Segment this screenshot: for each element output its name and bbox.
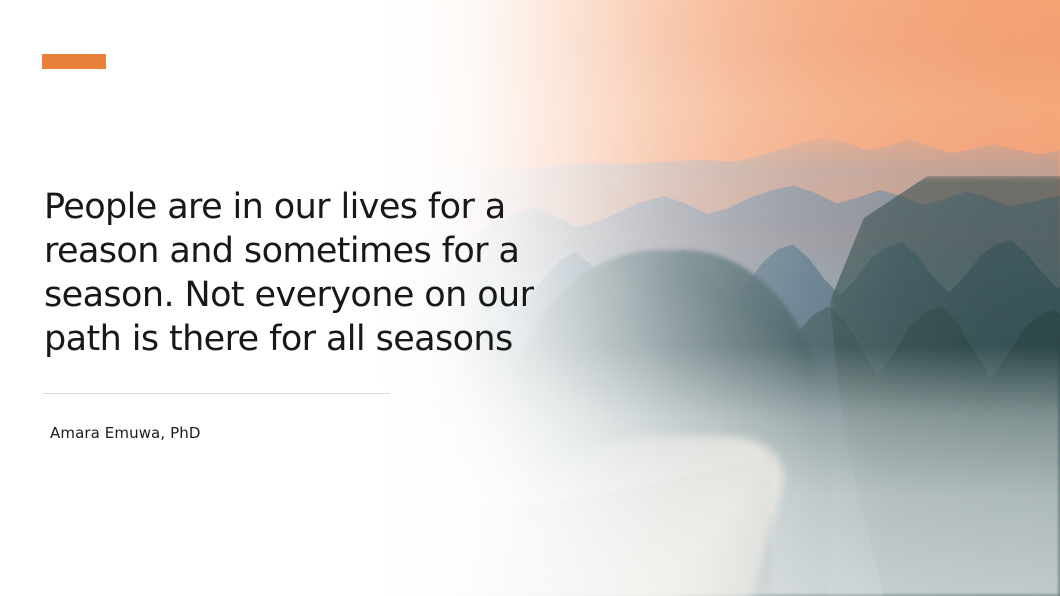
attribution-text: Amara Emuwa, PhD — [50, 424, 201, 442]
quote-text: People are in our lives for a reason and… — [44, 185, 564, 361]
accent-bar — [42, 54, 106, 69]
divider-rule — [43, 393, 390, 394]
slide: People are in our lives for a reason and… — [0, 0, 1060, 596]
